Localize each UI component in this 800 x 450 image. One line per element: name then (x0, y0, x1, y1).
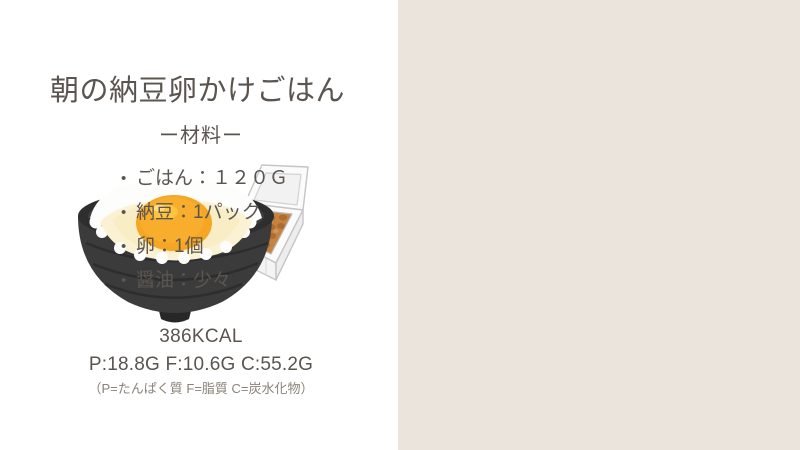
right-panel (398, 0, 800, 450)
list-item: • 納豆：1パック (120, 199, 288, 227)
ingredient-label: 醤油：少々 (136, 270, 231, 291)
calories-value: 386KCAL (0, 324, 402, 350)
ingredient-label: 卵：1個 (136, 236, 204, 257)
list-item: • 醤油：少々 (120, 267, 288, 295)
bullet-icon: • (121, 233, 126, 261)
bullet-icon: • (121, 267, 126, 295)
ingredient-label: ごはん：１２０Ｇ (136, 168, 288, 189)
list-item: • 卵：1個 (120, 233, 288, 261)
ingredients-heading: ー材料ー (0, 119, 402, 148)
ingredient-label: 納豆：1パック (136, 202, 261, 223)
macros-value: P:18.8G F:10.6G C:55.2G (0, 352, 402, 378)
ingredients-list: • ごはん：１２０Ｇ • 納豆：1パック • 卵：1個 • 醤油：少々 (120, 165, 288, 301)
nutrition-block: 386KCAL P:18.8G F:10.6G C:55.2G （P=たんぱく質… (0, 324, 402, 399)
recipe-slide: 朝の納豆卵かけごはん (0, 0, 800, 450)
page-title: 朝の納豆卵かけごはん (50, 74, 345, 109)
bullet-icon: • (121, 199, 126, 227)
macros-legend: （P=たんぱく質 F=脂質 C=炭水化物） (0, 379, 402, 399)
list-item: • ごはん：１２０Ｇ (120, 165, 288, 193)
bullet-icon: • (121, 165, 126, 193)
